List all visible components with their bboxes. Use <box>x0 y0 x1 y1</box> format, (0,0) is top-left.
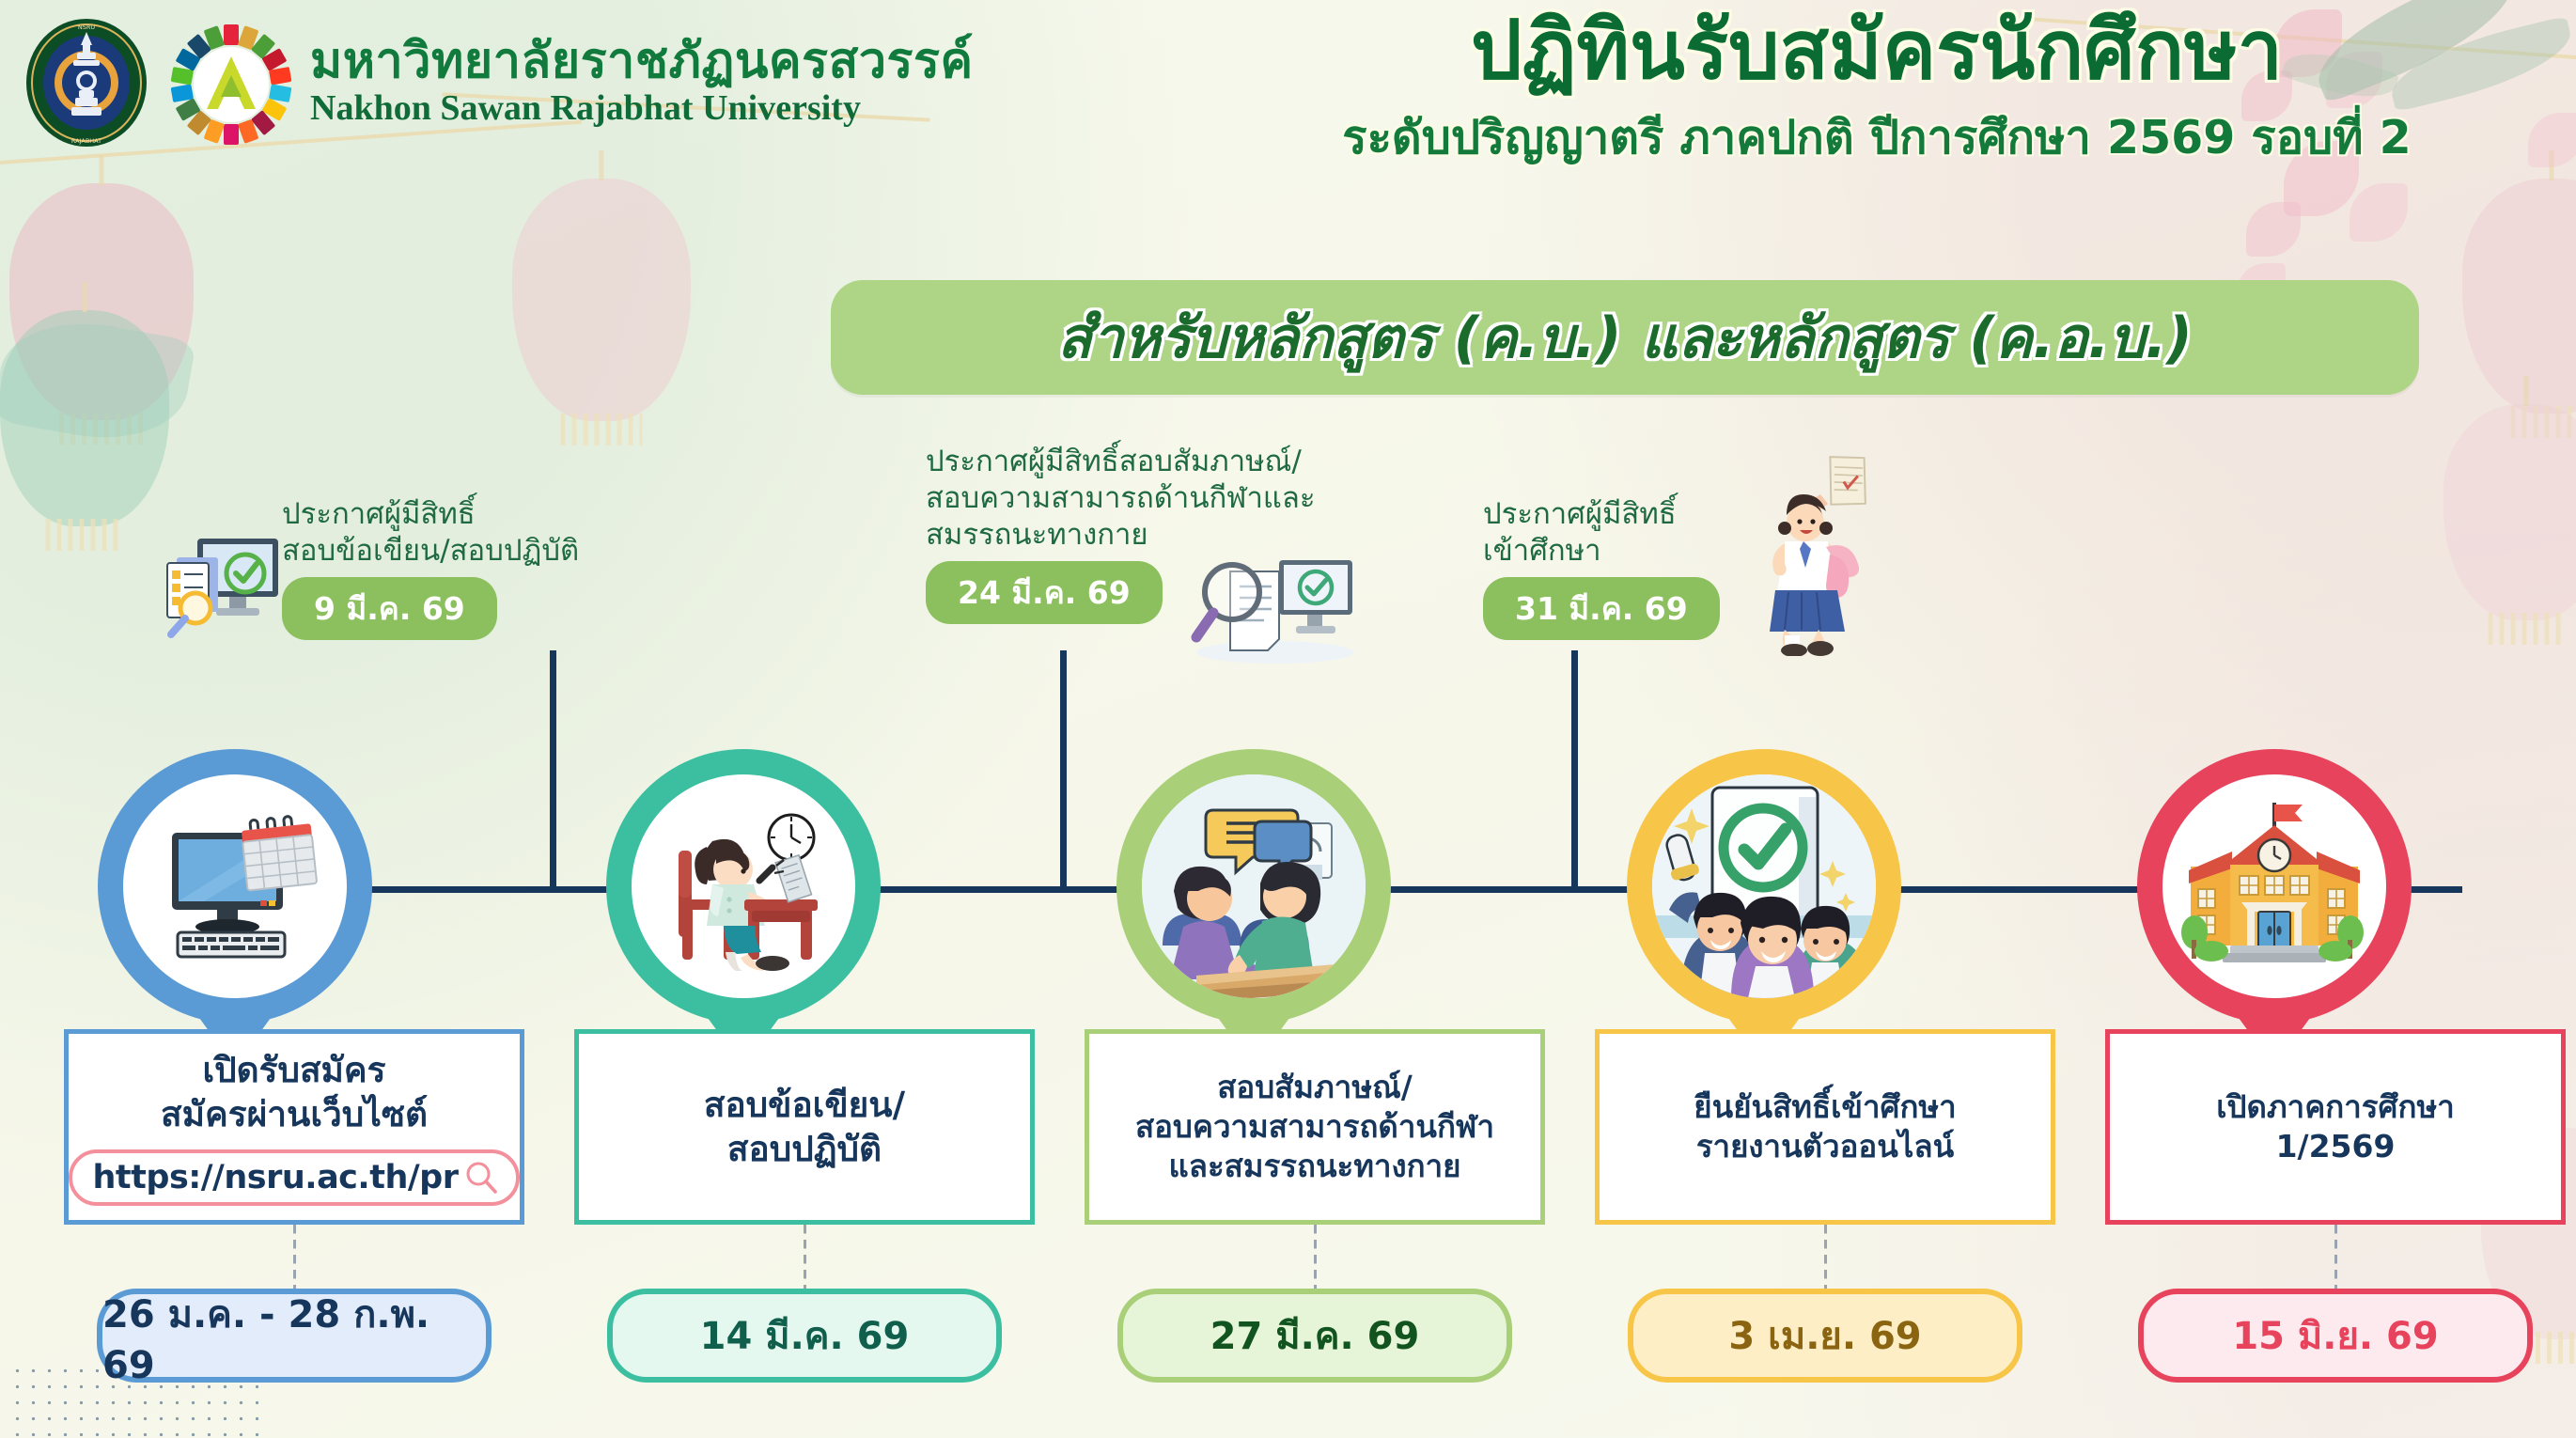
admission-timeline: ประกาศผู้มีสิทธิ์ สอบข้อเขียน/สอบปฏิบัติ… <box>0 0 2576 1438</box>
university-name-th: มหาวิทยาลัยราชภัฏนครสวรรค์ <box>310 36 974 87</box>
timeline-drop-line <box>1060 650 1067 886</box>
step-date-pill-4: 3 เม.ย. 69 <box>1628 1289 2022 1383</box>
step-card-1-title-line1: เปิดรับสมัคร <box>202 1048 385 1092</box>
card-date-connector-5 <box>2334 1225 2337 1289</box>
step-card-3-title-line1: สอบสัมภาษณ์/ <box>1217 1068 1413 1107</box>
step-card-2[interactable]: สอบข้อเขียน/ สอบปฏิบัติ <box>574 1029 1035 1225</box>
step-date-pill-3: 27 มี.ค. 69 <box>1117 1289 1512 1383</box>
timeline-node-3[interactable] <box>1116 749 1391 1024</box>
card-date-connector-1 <box>293 1225 296 1289</box>
jumping-student-icon <box>1743 449 1875 656</box>
announcement-block-2: ประกาศผู้มีสิทธิ์สอบสัมภาษณ์/ สอบความสาม… <box>926 444 1424 624</box>
step-date-3: 27 มี.ค. 69 <box>1210 1305 1420 1366</box>
step-card-2-title-line1: สอบข้อเขียน/ <box>704 1083 905 1127</box>
step-date-2: 14 มี.ค. 69 <box>700 1305 910 1366</box>
document-check-monitor-icon <box>160 522 291 644</box>
step-date-pill-2: 14 มี.ค. 69 <box>607 1289 1002 1383</box>
timeline-node-2[interactable] <box>606 749 881 1024</box>
university-name: มหาวิทยาลัยราชภัฏนครสวรรค์ Nakhon Sawan … <box>310 36 974 128</box>
magnifier-icon <box>461 1158 501 1197</box>
nsru-seal-logo: NSRU RAJABHAT <box>21 17 152 148</box>
announcement-label-2-line1: ประกาศผู้มีสิทธิ์สอบสัมภาษณ์/ <box>926 444 1424 480</box>
step-card-4-title-line1: ยืนยันสิทธิ์เข้าศึกษา <box>1694 1087 1956 1127</box>
svg-text:RAJABHAT: RAJABHAT <box>71 137 101 145</box>
interview-conversation-icon <box>1142 774 1366 998</box>
graduates-approved-icon <box>1652 774 1876 998</box>
application-url: https://nsru.ac.th/pr <box>93 1159 459 1196</box>
step-date-pill-5: 15 มิ.ย. 69 <box>2138 1289 2533 1383</box>
announcement-label-1-line2: สอบข้อเขียน/สอบปฏิบัติ <box>282 533 686 570</box>
step-card-5-title-line1: เปิดภาคการศึกษา <box>2216 1087 2454 1127</box>
computer-calendar-icon <box>123 774 347 998</box>
page-subtitle: ระดับปริญญาตรี ภาคปกติ ปีการศึกษา 2569 ร… <box>1219 101 2535 174</box>
card-date-connector-4 <box>1824 1225 1827 1289</box>
announcement-date-1: 9 มี.ค. 69 <box>282 577 497 640</box>
step-card-4-title-line2: รายงานตัวออนไลน์ <box>1696 1127 1954 1166</box>
announcement-block-1: ประกาศผู้มีสิทธิ์ สอบข้อเขียน/สอบปฏิบัติ… <box>282 496 686 640</box>
university-name-en: Nakhon Sawan Rajabhat University <box>310 89 974 129</box>
timeline-node-5[interactable] <box>2137 749 2412 1024</box>
step-card-4[interactable]: ยืนยันสิทธิ์เข้าศึกษา รายงานตัวออนไลน์ <box>1595 1029 2055 1225</box>
application-url-box[interactable]: https://nsru.ac.th/pr <box>69 1149 521 1206</box>
step-card-2-title-line2: สอบปฏิบัติ <box>727 1127 882 1171</box>
program-banner-text: สำหรับหลักสูตร (ค.บ.) และหลักสูตร (ค.อ.บ… <box>1057 293 2193 383</box>
step-card-1-title-line2: สมัครผ่านเว็บไซต์ <box>161 1092 428 1136</box>
announcement-date-2: 24 มี.ค. 69 <box>926 561 1163 624</box>
card-date-connector-2 <box>804 1225 806 1289</box>
announcement-date-3: 31 มี.ค. 69 <box>1483 577 1720 640</box>
step-card-5[interactable]: เปิดภาคการศึกษา 1/2569 <box>2105 1029 2566 1225</box>
step-card-5-title-line2: 1/2569 <box>2276 1127 2396 1166</box>
step-card-3-title-line2: สอบความสามารถด้านกีฬา <box>1135 1107 1494 1147</box>
announcement-label-2-line2: สอบความสามารถด้านกีฬาและ <box>926 480 1424 517</box>
page-title: ปฏิทินรับสมัครนักศึกษา <box>1219 8 2535 95</box>
step-date-1: 26 ม.ค. - 28 ก.พ. 69 <box>102 1284 486 1387</box>
announcement-label-2-line3: สมรรถนะทางกาย <box>926 517 1424 554</box>
title-block: ปฏิทินรับสมัครนักศึกษา ระดับปริญญาตรี ภา… <box>1219 8 2535 174</box>
timeline-drop-line <box>1571 650 1578 886</box>
timeline-node-1[interactable] <box>98 749 372 1024</box>
step-date-5: 15 มิ.ย. 69 <box>2232 1305 2438 1366</box>
timeline-node-4[interactable] <box>1627 749 1901 1024</box>
step-date-4: 3 เม.ย. 69 <box>1728 1305 1921 1366</box>
sdg-wheel-logo <box>167 21 295 148</box>
card-date-connector-3 <box>1314 1225 1317 1289</box>
school-building-icon <box>2162 774 2386 998</box>
step-date-pill-1: 26 ม.ค. - 28 ก.พ. 69 <box>97 1289 492 1383</box>
announcement-label-1-line1: ประกาศผู้มีสิทธิ์ <box>282 496 686 533</box>
svg-text:NSRU: NSRU <box>78 23 96 31</box>
timeline-drop-line <box>550 650 556 886</box>
step-card-3[interactable]: สอบสัมภาษณ์/ สอบความสามารถด้านกีฬา และสม… <box>1085 1029 1545 1225</box>
program-banner: สำหรับหลักสูตร (ค.บ.) และหลักสูตร (ค.อ.บ… <box>831 280 2419 395</box>
student-writing-exam-icon <box>632 774 855 998</box>
step-card-3-title-line3: และสมรรถนะทางกาย <box>1168 1147 1460 1186</box>
step-card-1[interactable]: เปิดรับสมัคร สมัครผ่านเว็บไซต์ https://n… <box>64 1029 524 1225</box>
